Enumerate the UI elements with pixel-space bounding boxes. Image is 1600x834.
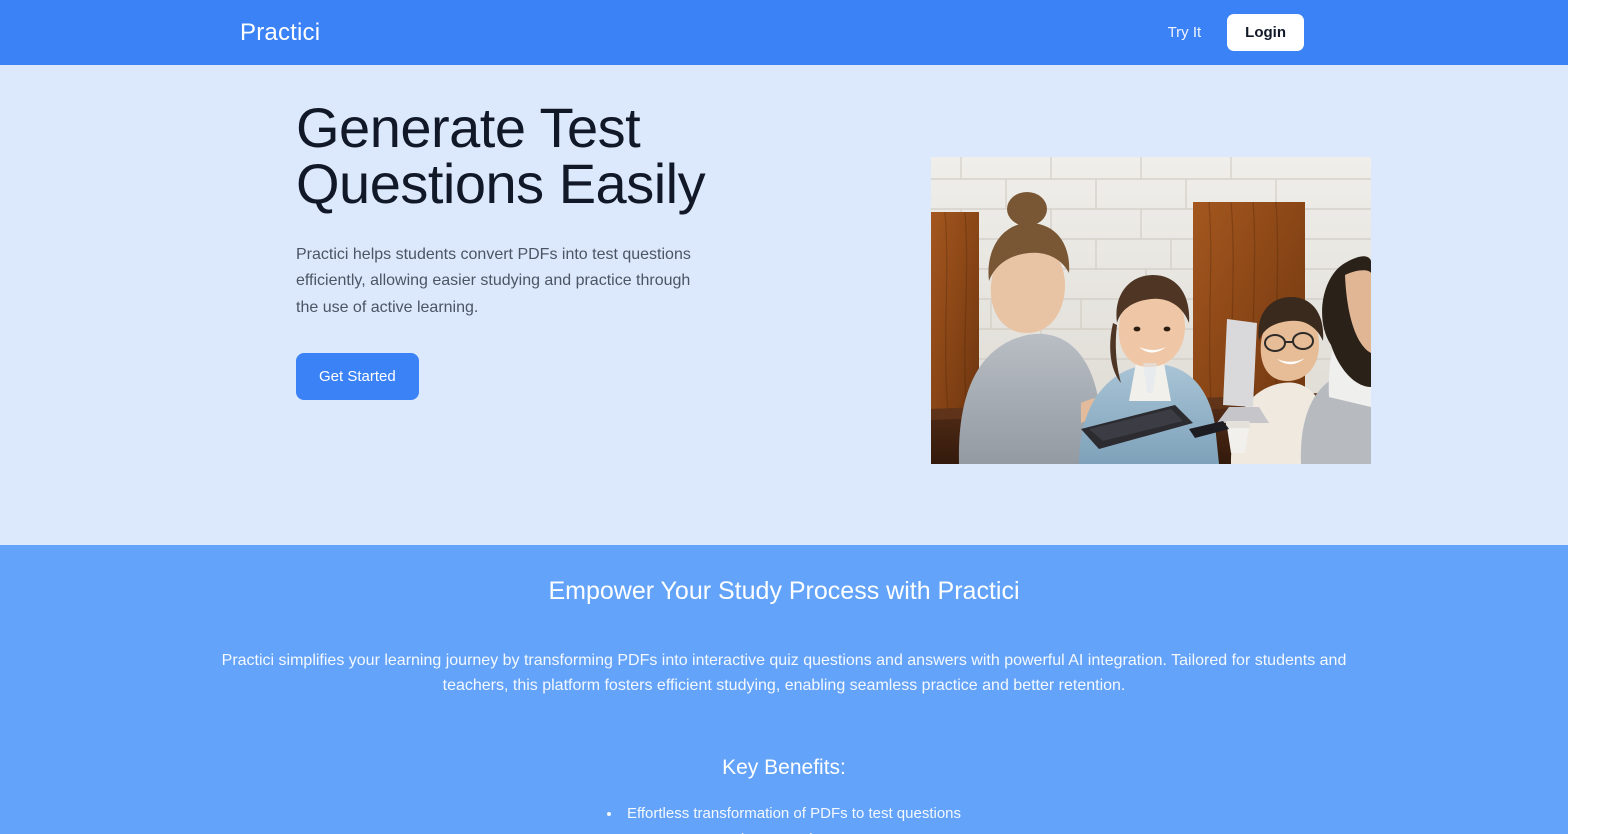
feature-title: Empower Your Study Process with Practici xyxy=(0,575,1568,608)
page-root: Practici Try It Login Generate Test Ques… xyxy=(0,0,1568,834)
site-header: Practici Try It Login xyxy=(0,0,1568,65)
hero-photo xyxy=(931,157,1371,464)
students-collaborating-illustration xyxy=(931,157,1371,464)
header-nav: Try It Login xyxy=(1168,14,1304,51)
list-item: Various question types xyxy=(0,828,1568,834)
hero-media xyxy=(931,65,1371,464)
hero-copy: Generate Test Questions Easily Practici … xyxy=(296,65,726,400)
hero-title: Generate Test Questions Easily xyxy=(296,100,726,212)
key-benefits-title: Key Benefits: xyxy=(0,756,1568,780)
feature-description: Practici simplifies your learning journe… xyxy=(204,648,1364,699)
nav-link-try-it[interactable]: Try It xyxy=(1168,25,1202,40)
list-item: Effortless transformation of PDFs to tes… xyxy=(0,802,1568,826)
brand-logo[interactable]: Practici xyxy=(240,21,320,45)
key-benefits-list: Effortless transformation of PDFs to tes… xyxy=(0,802,1568,834)
login-button[interactable]: Login xyxy=(1227,14,1304,51)
hero-inner: Generate Test Questions Easily Practici … xyxy=(0,65,1568,464)
get-started-button[interactable]: Get Started xyxy=(296,353,419,400)
hero-section: Generate Test Questions Easily Practici … xyxy=(0,65,1568,545)
feature-section: Empower Your Study Process with Practici… xyxy=(0,545,1568,834)
hero-description: Practici helps students convert PDFs int… xyxy=(296,242,716,321)
